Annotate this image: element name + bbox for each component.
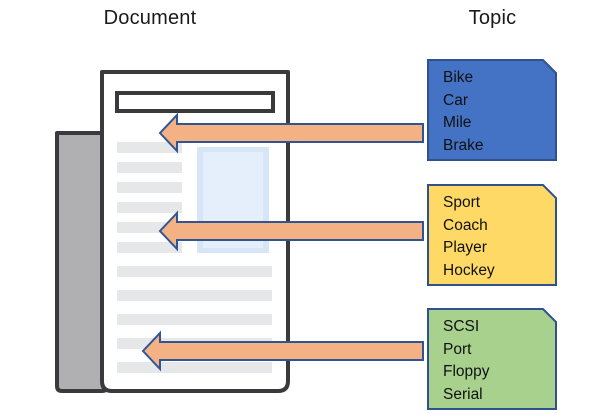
topic-term: Floppy bbox=[443, 361, 490, 384]
topic-term-list-bike: Bike Car Mile Brake bbox=[443, 67, 484, 157]
topic-term: Hockey bbox=[443, 260, 495, 283]
topic-term: Mile bbox=[443, 112, 484, 135]
topic-term: Port bbox=[443, 339, 490, 362]
topic-term: Bike bbox=[443, 67, 484, 90]
topic-term: Player bbox=[443, 237, 495, 260]
topic-sport[interactable]: Sport Coach Player Hockey bbox=[427, 184, 557, 286]
arrow-topic-scsi-to-document bbox=[143, 333, 423, 369]
topic-term: Sport bbox=[443, 192, 495, 215]
topic-term: Car bbox=[443, 90, 484, 113]
arrow-topic-sport-to-document bbox=[160, 213, 423, 249]
topic-term: Brake bbox=[443, 135, 484, 158]
topic-term-list-sport: Sport Coach Player Hockey bbox=[443, 192, 495, 282]
topic-scsi[interactable]: SCSI Port Floppy Serial bbox=[427, 308, 557, 410]
topic-term: Serial bbox=[443, 384, 490, 407]
topic-term: Coach bbox=[443, 215, 495, 238]
topic-term-list-scsi: SCSI Port Floppy Serial bbox=[443, 316, 490, 406]
diagram-canvas: Document Topic bbox=[0, 0, 600, 417]
topic-term: SCSI bbox=[443, 316, 490, 339]
arrow-topic-bike-to-document bbox=[160, 115, 423, 151]
topic-bike[interactable]: Bike Car Mile Brake bbox=[427, 59, 557, 161]
